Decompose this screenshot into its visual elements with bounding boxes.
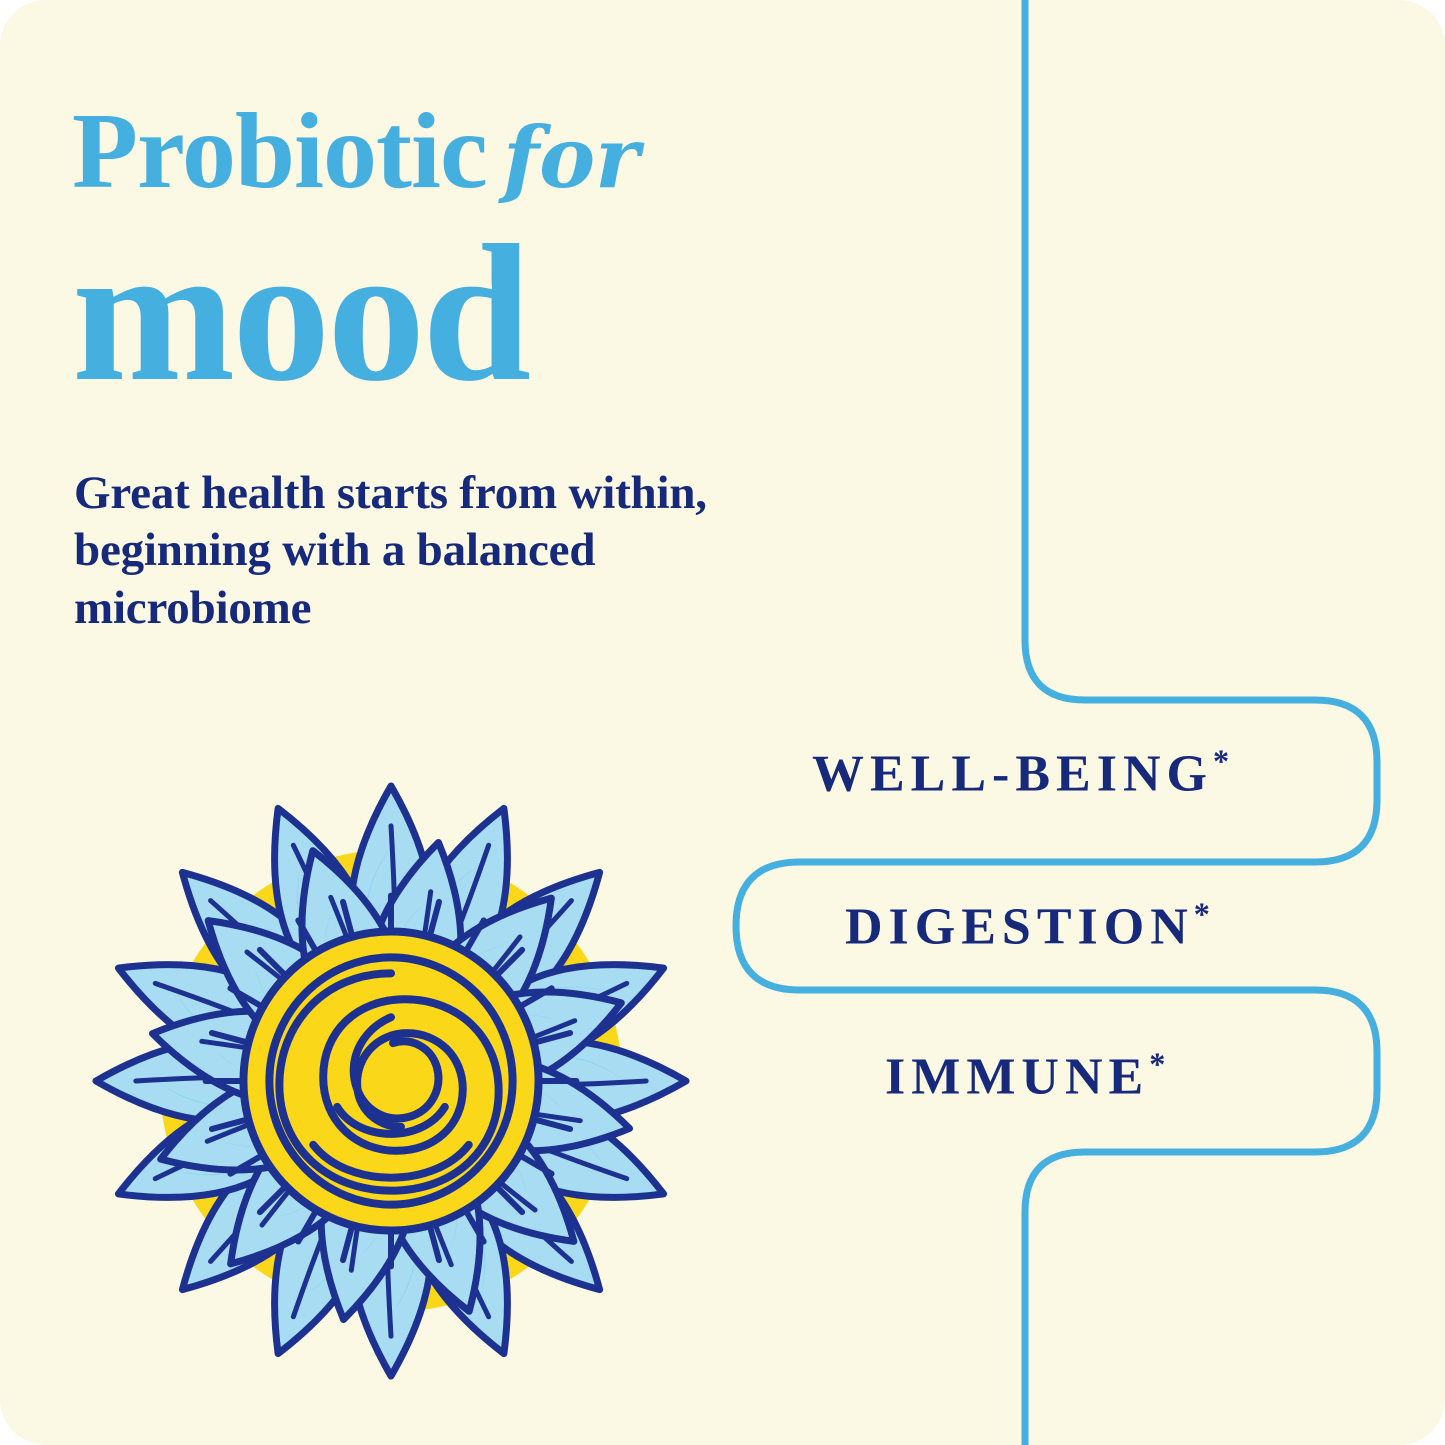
subtitle-line-2: beginning with a balanced <box>74 522 904 579</box>
benefit-label-immune: IMMUNE* <box>885 1046 1165 1106</box>
page-title: Probioticfor mood <box>72 98 972 404</box>
benefit-footnote-marker-immune: * <box>1149 1046 1165 1082</box>
benefit-label-well-being: WELL-BEING* <box>812 743 1229 803</box>
benefit-label-digestion-text: DIGESTION <box>845 898 1194 955</box>
benefit-label-digestion: DIGESTION* <box>845 896 1210 956</box>
subtitle-line-3: microbiome <box>74 580 904 637</box>
headline-line-one: Probioticfor <box>72 98 972 206</box>
sunflower-illustration <box>62 772 720 1390</box>
benefit-label-well-being-text: WELL-BEING <box>812 745 1213 802</box>
headline-word-mood: mood <box>72 224 972 404</box>
flower-center-spiral <box>243 931 538 1230</box>
promo-card: Probioticfor mood Great health starts fr… <box>0 0 1445 1445</box>
headline-word-probiotic: Probiotic <box>72 92 487 211</box>
subtitle: Great health starts from within, beginni… <box>74 465 904 637</box>
benefit-label-immune-text: IMMUNE <box>885 1048 1149 1105</box>
benefit-footnote-marker-well-being: * <box>1213 743 1229 779</box>
headline-word-for: for <box>503 108 639 207</box>
benefit-footnote-marker-digestion: * <box>1194 896 1210 932</box>
subtitle-line-1: Great health starts from within, <box>74 465 904 522</box>
